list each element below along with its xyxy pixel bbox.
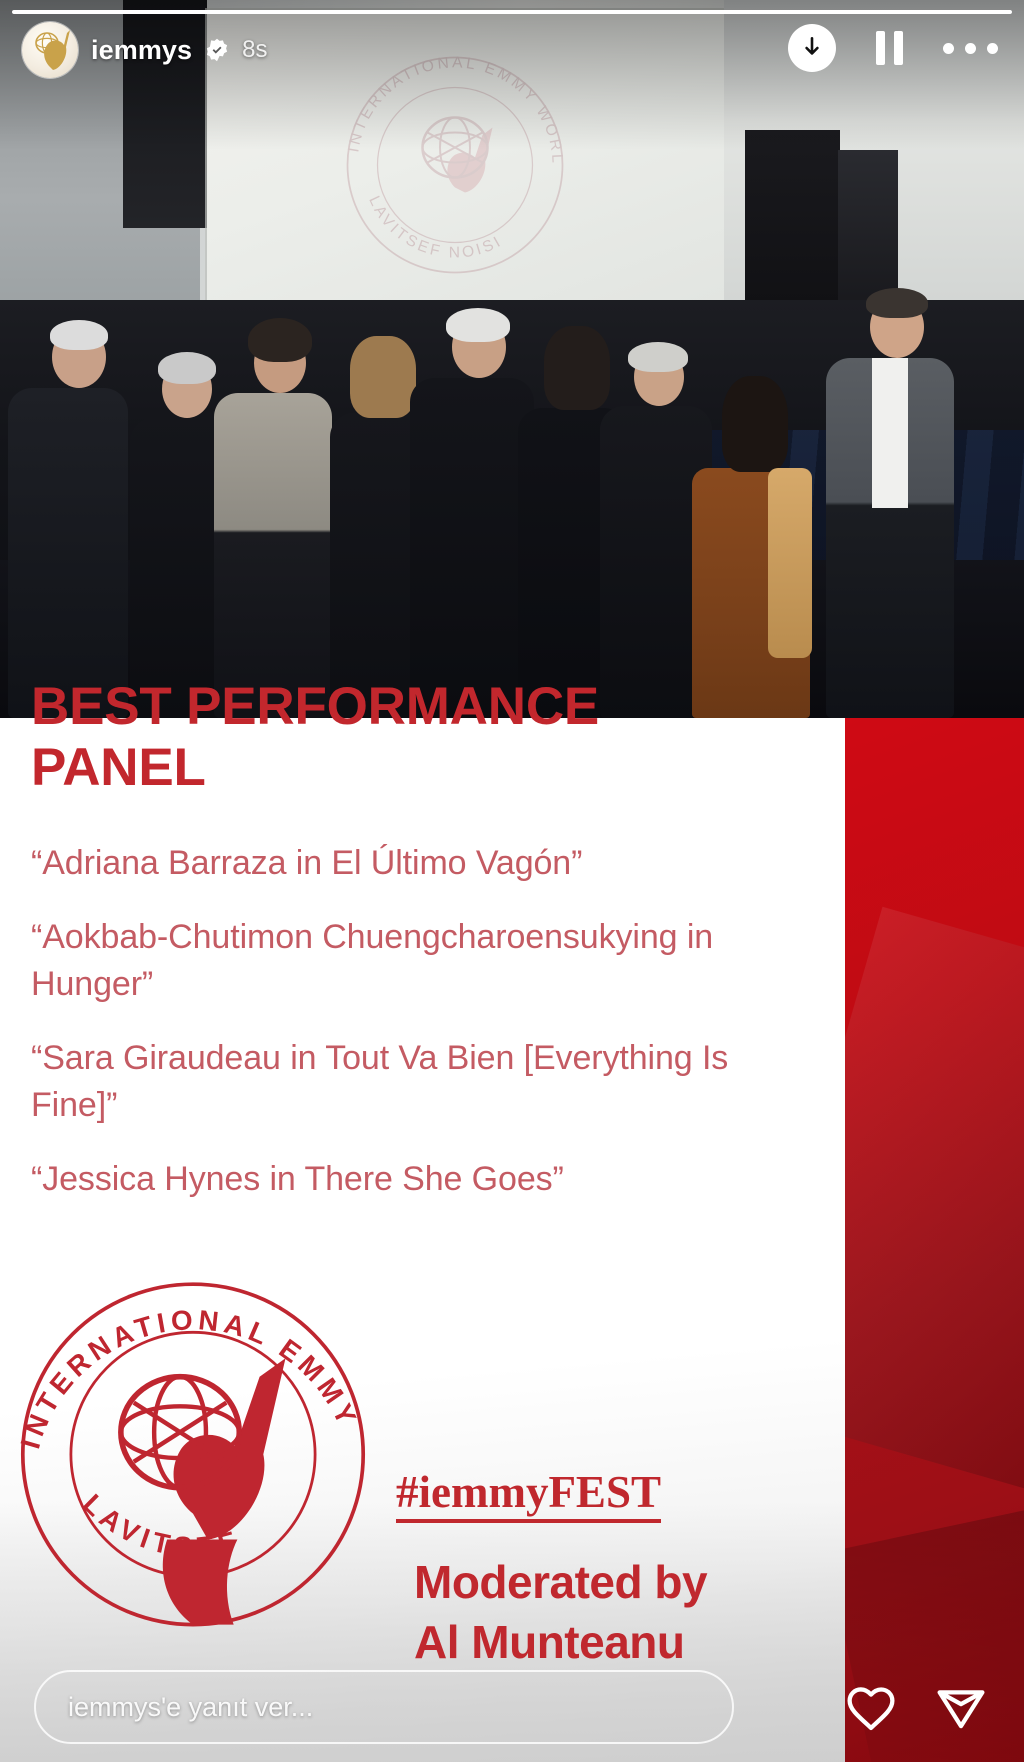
nominee-list: “Adriana Barraza in El Último Vagón” “Ao… xyxy=(31,840,731,1230)
story-progress-bar[interactable] xyxy=(12,10,1012,14)
list-item: “Aokbab-Chutimon Chuengcharoensukying in… xyxy=(31,914,731,1009)
story-progress-fill xyxy=(12,10,1012,14)
story-timestamp: 8s xyxy=(242,36,267,64)
pause-button[interactable] xyxy=(876,31,903,65)
story-controls xyxy=(788,24,998,72)
instagram-story-viewer: INTERNATIONAL EMMY WORLD TELEV LAVITSEF … xyxy=(0,0,1024,1762)
pause-icon-bar-left xyxy=(876,31,885,65)
panelist-1 xyxy=(8,298,128,718)
panelist-8 xyxy=(692,288,810,718)
emmy-statuette-avatar-icon xyxy=(29,27,71,73)
more-options-icon-dot-1 xyxy=(943,43,954,54)
story-media-photo[interactable]: INTERNATIONAL EMMY WORLD TELEV LAVITSEF … xyxy=(0,0,1024,718)
panelist-9 xyxy=(826,268,954,718)
emmy-festival-seal-icon: INTERNATIONAL EMMY WORLD TELEVISION LAVI… xyxy=(8,1262,378,1632)
list-item: “Jessica Hynes in There She Goes” xyxy=(31,1156,731,1204)
reply-input[interactable]: iemmys'e yanıt ver... xyxy=(34,1670,734,1744)
download-icon xyxy=(799,35,825,61)
list-item: “Sara Giraudeau in Tout Va Bien [Everyth… xyxy=(31,1035,731,1130)
svg-text:INTERNATIONAL EMMY WORLD TELEV: INTERNATIONAL EMMY WORLD TELEVISION xyxy=(8,1262,369,1452)
more-options-button[interactable] xyxy=(943,43,998,54)
pause-icon-bar-right xyxy=(894,31,903,65)
page-title: BEST PERFORMANCE PANEL xyxy=(31,676,721,799)
story-username[interactable]: iemmys xyxy=(91,35,192,66)
story-footer: iemmys'e yanıt ver... xyxy=(0,1666,1024,1762)
festival-hashtag: #iemmyFEST xyxy=(396,1470,661,1523)
share-paper-plane-icon[interactable] xyxy=(934,1682,988,1732)
heart-icon[interactable] xyxy=(844,1682,898,1732)
story-actions xyxy=(844,1682,988,1732)
moderated-by-label: Moderated by xyxy=(414,1555,707,1609)
avatar[interactable] xyxy=(22,22,78,78)
panelist-3 xyxy=(214,303,332,718)
more-options-icon-dot-3 xyxy=(987,43,998,54)
projected-emmy-seal-icon: INTERNATIONAL EMMY WORLD TELEV LAVITSEF … xyxy=(330,40,580,250)
more-options-icon-dot-2 xyxy=(965,43,976,54)
svg-text:LAVITSEF NOISI: LAVITSEF NOISI xyxy=(365,194,506,262)
list-item: “Adriana Barraza in El Último Vagón” xyxy=(31,840,731,888)
moderator-name: Al Munteanu xyxy=(414,1615,684,1669)
story-header: iemmys 8s xyxy=(22,22,268,78)
verified-badge-icon xyxy=(205,38,229,62)
slide-red-band xyxy=(845,718,1024,1762)
download-button[interactable] xyxy=(788,24,836,72)
reply-placeholder: iemmys'e yanıt ver... xyxy=(68,1692,313,1723)
panelist-5 xyxy=(410,288,534,718)
